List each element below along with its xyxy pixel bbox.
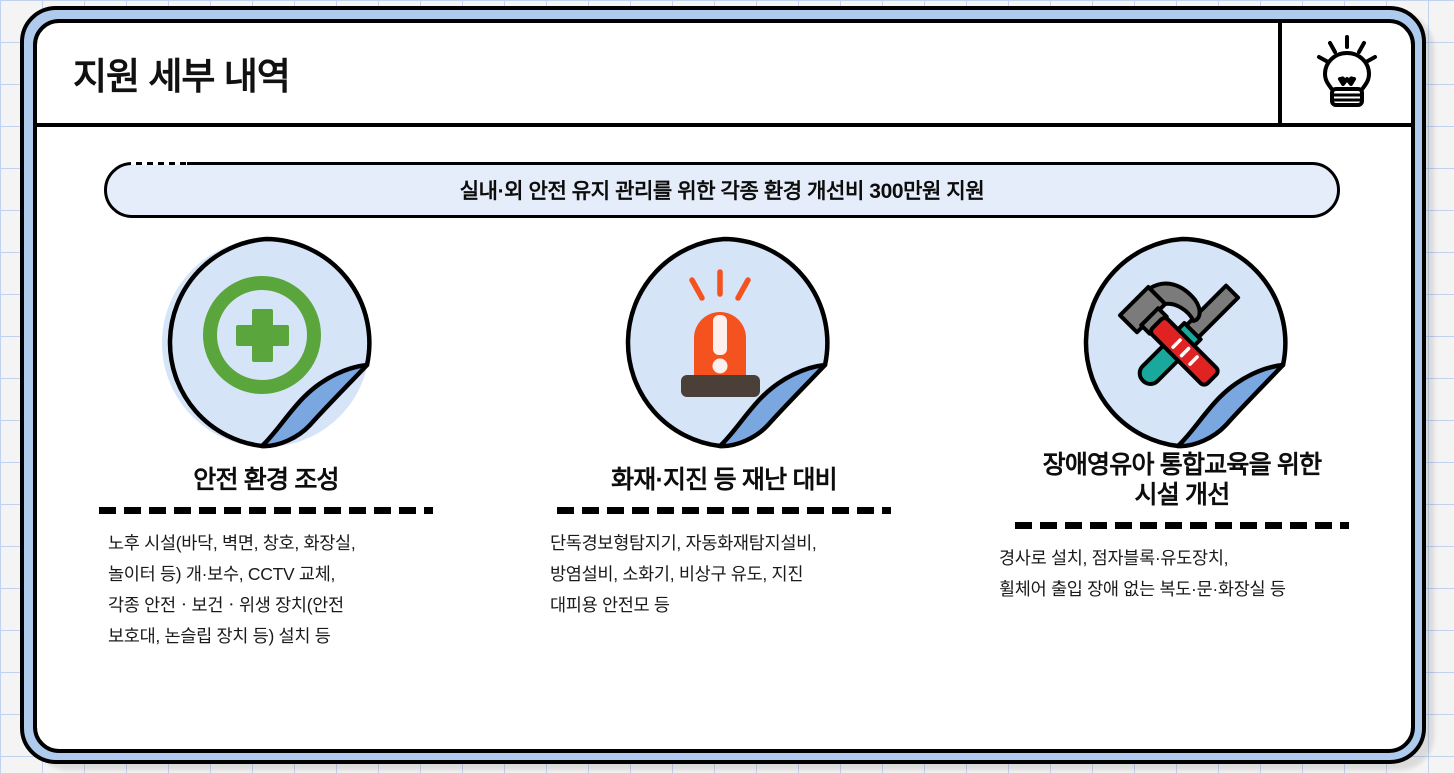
plus-circle-sticker-icon [158,235,374,451]
emergency-siren-sticker-icon [616,235,832,451]
slide-card: 지원 세부 내역 [33,19,1415,753]
header-title-cell: 지원 세부 내역 [37,23,1282,123]
banner-text: 실내·외 안전 유지 관리를 위한 각종 환경 개선비 300만원 지원 [460,175,985,205]
column-title: 화재·지진 등 재난 대비 [611,461,837,495]
column-divider [1015,522,1349,529]
column-safety-environment: 안전 환경 조성 노후 시설(바닥, 벽면, 창호, 화장실, 놀이터 등) 개… [37,235,495,653]
column-body: 단독경보형탐지기, 자동화재탐지설비, 방염설비, 소화기, 비상구 유도, 지… [546,528,902,621]
banner-dash-accent [131,162,187,165]
hammer-screwdriver-sticker-icon [1074,235,1290,451]
column-disaster-preparedness: 화재·지진 등 재난 대비 단독경보형탐지기, 자동화재탐지설비, 방염설비, … [495,235,953,653]
lightbulb-icon [1316,34,1378,113]
page-title: 지원 세부 내역 [73,46,290,100]
columns: 안전 환경 조성 노후 시설(바닥, 벽면, 창호, 화장실, 놀이터 등) 개… [37,235,1411,653]
column-body: 노후 시설(바닥, 벽면, 창호, 화장실, 놀이터 등) 개·보수, CCTV… [96,528,436,653]
header-icon-cell [1282,23,1411,123]
column-divider [99,507,433,514]
column-title: 장애영유아 통합교육을 위한 시설 개선 [1043,451,1322,510]
banner-pill: 실내·외 안전 유지 관리를 위한 각종 환경 개선비 300만원 지원 [104,162,1340,218]
slide-canvas: 지원 세부 내역 [0,0,1454,773]
column-divider [557,507,891,514]
column-accessibility-improvement: 장애영유아 통합교육을 위한 시설 개선 경사로 설치, 점자블록·유도장치, … [953,235,1411,653]
column-body: 경사로 설치, 점자블록·유도장치, 휠체어 출입 장애 없는 복도·문·화장실… [997,543,1367,605]
header: 지원 세부 내역 [37,23,1411,127]
column-title: 안전 환경 조성 [193,461,339,495]
